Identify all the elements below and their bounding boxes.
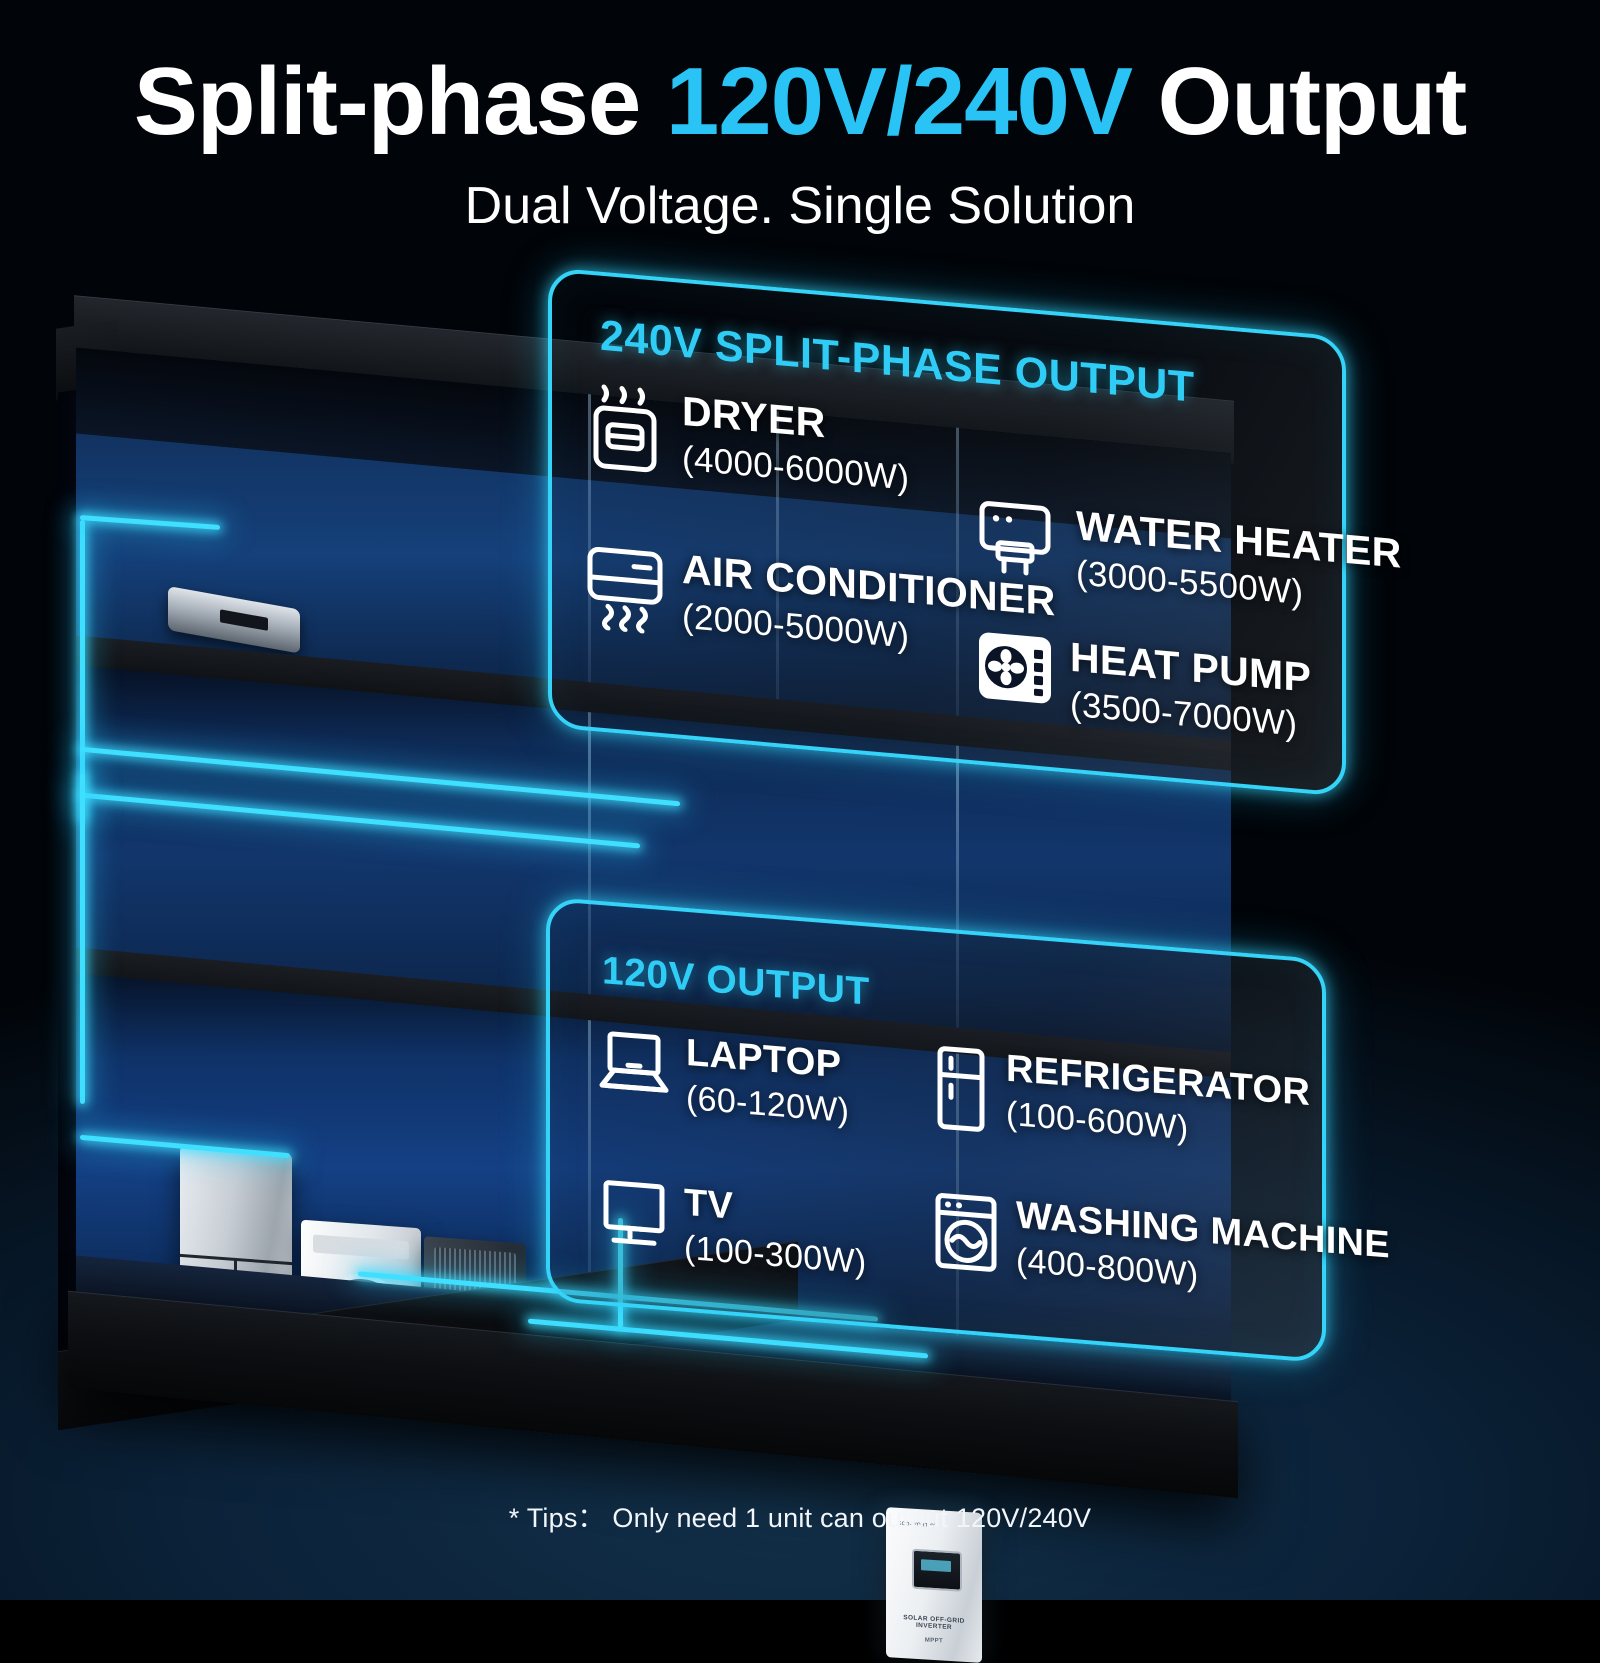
air-conditioner-icon: [584, 540, 666, 635]
refrigerator-text: REFRIGERATOR (100-600W): [1006, 1050, 1310, 1155]
panel-240v-content: 240V SPLIT-PHASE OUTPUT DRYER: [552, 271, 1342, 792]
title-part-1: Split-phase: [134, 48, 666, 155]
wall-air-conditioner-prop: [168, 586, 300, 654]
appliance-item-laptop: LAPTOP (60-120W): [598, 1027, 849, 1128]
appliance-item-washing-machine: WASHING MACHINE (400-800W): [932, 1190, 1390, 1308]
appliance-item-refrigerator: REFRIGERATOR (100-600W): [932, 1044, 1310, 1160]
title-part-2: Output: [1132, 48, 1466, 155]
inverter-mppt-label: MPPT: [886, 1635, 982, 1647]
heat-pump-text: HEAT PUMP (3500-7000W): [1070, 637, 1311, 743]
neon-wire-vertical: [80, 774, 85, 1104]
footer-tip-text: * Tips： Only need 1 unit can output 120V…: [0, 1496, 1600, 1535]
washer-control-panel: [313, 1234, 409, 1259]
dryer-text: DRYER (4000-6000W): [682, 391, 909, 496]
ac-display: [220, 609, 268, 631]
washing-machine-icon: [932, 1190, 1000, 1275]
water-heater-icon: [976, 497, 1060, 584]
appliance-item-dryer: DRYER (4000-6000W): [588, 383, 909, 499]
laptop-wattage: (60-120W): [686, 1081, 849, 1128]
page-subtitle: Dual Voltage. Single Solution: [0, 176, 1600, 236]
panel-240v-split-phase-output: 240V SPLIT-PHASE OUTPUT DRYER: [548, 267, 1346, 797]
page-title: Split-phase 120V/240V Output: [0, 52, 1600, 153]
inverter-display: [912, 1549, 962, 1592]
appliance-item-heat-pump: HEAT PUMP (3500-7000W): [976, 629, 1311, 743]
inverter-model-label: SOLAR OFF-GRID INVERTER: [886, 1613, 982, 1633]
tv-wattage: (100-300W): [684, 1231, 867, 1280]
heat-pump-icon: [976, 629, 1054, 708]
panel-120v-heading: 120V OUTPUT: [602, 949, 870, 1015]
panel-120v-output: 120V OUTPUT LAPTOP (60-120W): [546, 897, 1326, 1364]
appliance-item-tv: TV (100-300W): [600, 1177, 867, 1279]
laptop-icon: [598, 1027, 670, 1099]
tv-name: TV: [684, 1184, 867, 1237]
refrigerator-icon: [932, 1044, 990, 1135]
tv-icon: [600, 1177, 668, 1254]
washing-machine-text: WASHING MACHINE (400-800W): [1016, 1196, 1390, 1307]
dryer-icon: [588, 383, 666, 478]
water-heater-text: WATER HEATER (3000-5500W): [1076, 505, 1402, 618]
laptop-text: LAPTOP (60-120W): [686, 1034, 849, 1128]
dryer-wattage: (4000-6000W): [682, 441, 909, 496]
laptop-name: LAPTOP: [686, 1034, 849, 1085]
tv-text: TV (100-300W): [684, 1184, 867, 1280]
panel-120v-content: 120V OUTPUT LAPTOP (60-120W): [550, 901, 1322, 1359]
title-accent-voltage: 120V/240V: [666, 48, 1132, 155]
infographic-stage: ECO-WORTHY SOLAR OFF-GRID INVERTER MPPT …: [0, 0, 1600, 1600]
